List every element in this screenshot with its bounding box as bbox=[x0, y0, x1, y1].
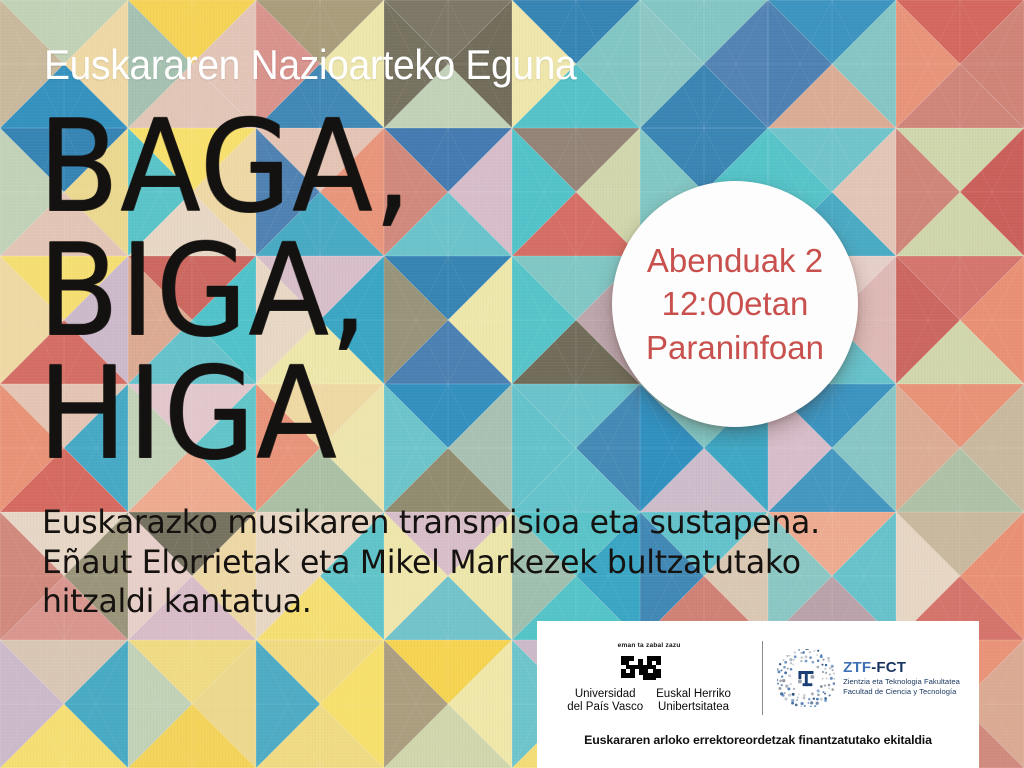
ehu-motto: eman ta zabal zazu bbox=[618, 642, 681, 649]
poster-canvas: Euskararen Nazioarteko Eguna BAGA, BIGA,… bbox=[0, 0, 1024, 768]
ztf-text-block: ZTF-FCT Zientzia eta Teknologia Fakultat… bbox=[843, 660, 960, 697]
badge-place: Paraninfoan bbox=[646, 326, 824, 370]
ehu-names: Universidad del País Vasco Euskal Herrik… bbox=[567, 688, 731, 714]
ztf-subtitle-es: Facultad de Ciencia y Tecnología bbox=[843, 688, 960, 696]
ehu-name-eu: Euskal Herriko Unibertsitatea bbox=[656, 688, 731, 714]
ehu-name-es-line2: del País Vasco bbox=[567, 701, 643, 714]
ehu-name-es: Universidad del País Vasco bbox=[567, 688, 643, 714]
ztf-dot-circle-logo-icon bbox=[777, 649, 835, 707]
ehu-name-eu-line1: Euskal Herriko bbox=[656, 688, 731, 701]
title-line-3: HIGA bbox=[38, 355, 678, 474]
description-line-3: hitzaldi kantatua. bbox=[42, 582, 929, 622]
badge-time: 12:00etan bbox=[662, 282, 809, 326]
title-line-1: BAGA, bbox=[38, 108, 678, 227]
page-title: BAGA, BIGA, HIGA bbox=[38, 108, 678, 465]
ztf-logo-block: ZTF-FCT Zientzia eta Teknologia Fakultat… bbox=[777, 649, 960, 707]
logo-divider bbox=[762, 641, 763, 715]
date-badge: Abenduak 2 12:00etan Paraninfoan bbox=[612, 181, 858, 427]
sponsor-footer: eman ta zabal zazu Universidad del País … bbox=[537, 621, 979, 768]
description-line-1: Euskarazko musikaren transmisioa eta sus… bbox=[42, 503, 929, 543]
ehu-name-eu-line2: Unibertsitatea bbox=[656, 701, 731, 714]
ehu-lauburu-logo-icon bbox=[617, 650, 681, 684]
badge-date: Abenduak 2 bbox=[647, 239, 823, 283]
page-kicker: Euskararen Nazioarteko Eguna bbox=[44, 44, 576, 86]
description-line-2: Eñaut Elorrietak eta Mikel Markezek bult… bbox=[42, 543, 929, 583]
ehu-logo-block: eman ta zabal zazu Universidad del País … bbox=[556, 642, 748, 714]
ehu-name-es-line1: Universidad bbox=[567, 688, 643, 701]
funding-line: Euskararen arloko errektoreordetzak fina… bbox=[584, 733, 932, 747]
ztf-subtitle-eu: Zientzia eta Teknologia Fakultatea bbox=[843, 678, 960, 686]
description-text: Euskarazko musikaren transmisioa eta sus… bbox=[42, 503, 929, 622]
ztf-acronym-dark: -FCT bbox=[871, 659, 906, 676]
ztf-acronym: ZTF-FCT bbox=[843, 660, 960, 676]
title-line-2: BIGA, bbox=[38, 232, 678, 351]
sponsor-logos: eman ta zabal zazu Universidad del País … bbox=[537, 634, 979, 722]
ztf-acronym-light: ZTF bbox=[843, 659, 871, 676]
